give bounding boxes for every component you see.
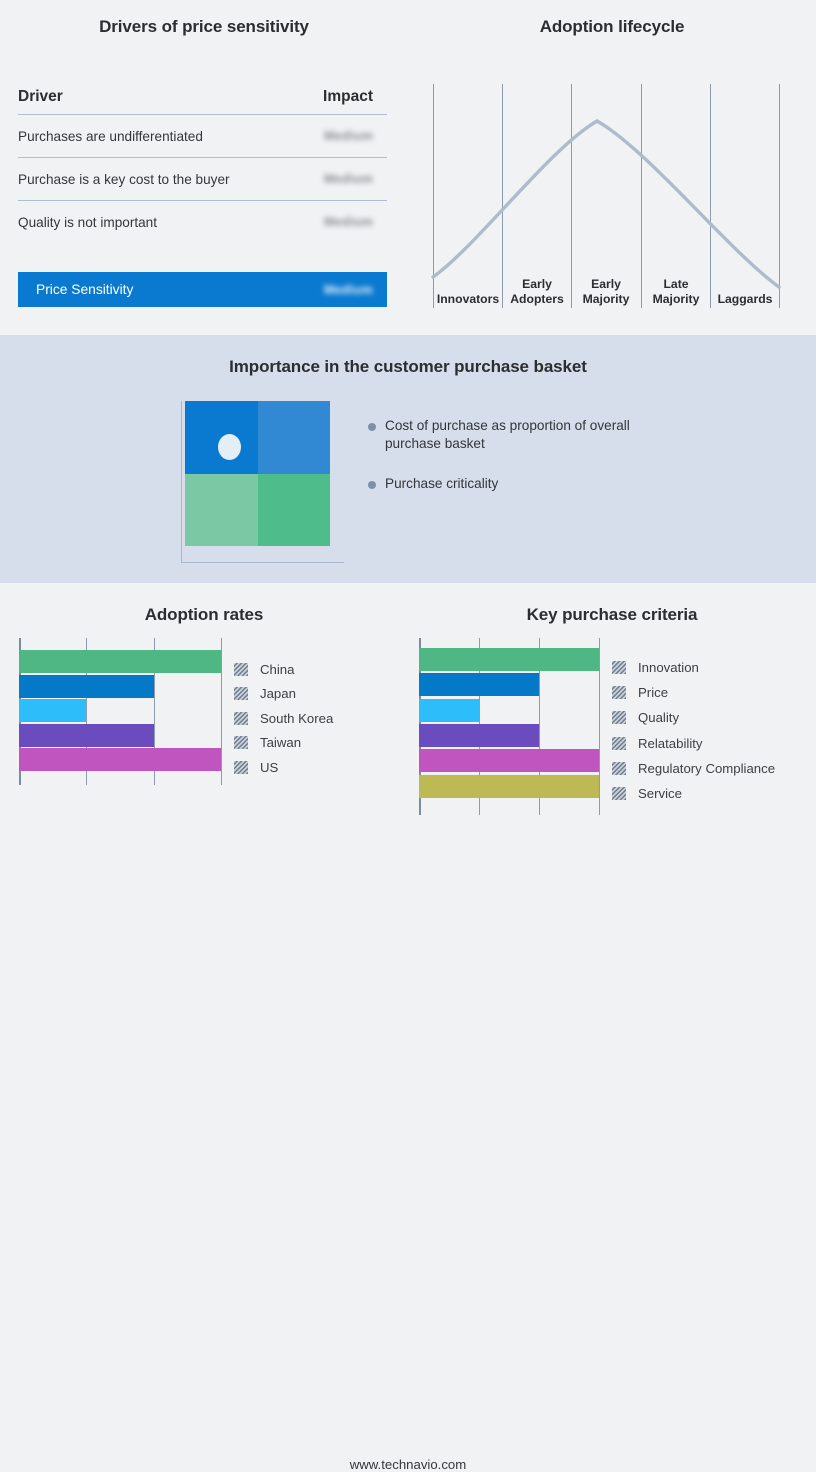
gridline [599, 638, 600, 815]
adoption-rates-title: Adoption rates [0, 605, 408, 625]
legend-item: China [234, 662, 294, 677]
adoption-rates-panel: Adoption rates ChinaJapanSouth KoreaTaiw… [0, 583, 408, 902]
legend-swatch-hatch-icon [234, 663, 248, 676]
legend-label: Innovation [638, 660, 699, 675]
legend-item: Quality [612, 710, 679, 725]
impact-value-redacted: Medium [324, 172, 387, 186]
legend-swatch-hatch-icon [234, 712, 248, 725]
table-row: Quality is not important Medium [18, 201, 387, 243]
legend-swatch-hatch-icon [234, 687, 248, 700]
column-header-impact: Impact [323, 88, 387, 106]
gridline [221, 638, 222, 785]
basket-title: Importance in the customer purchase bask… [0, 335, 816, 377]
legend-item: Price [612, 685, 668, 700]
legend-label: Quality [638, 710, 679, 725]
legend-label: Regulatory Compliance [638, 761, 775, 776]
lifecycle-stage-label: Majority [653, 292, 700, 306]
bar [419, 775, 599, 798]
position-marker [218, 434, 241, 460]
basket-legend: Cost of purchase as proportion of overal… [368, 417, 658, 515]
legend-label: Service [638, 786, 682, 801]
legend-swatch-hatch-icon [612, 686, 626, 699]
adoption-rates-plot [19, 638, 221, 785]
impact-value-redacted: Medium [324, 215, 387, 229]
drivers-table: Driver Impact Purchases are undifferenti… [18, 88, 387, 243]
drivers-panel: Drivers of price sensitivity Driver Impa… [0, 0, 408, 335]
legend-swatch-hatch-icon [612, 737, 626, 750]
bar [419, 724, 539, 747]
legend-swatch-hatch-icon [612, 661, 626, 674]
legend-swatch-hatch-icon [612, 711, 626, 724]
legend-swatch-hatch-icon [234, 736, 248, 749]
table-row: Purchases are undifferentiated Medium [18, 115, 387, 158]
top-section: Drivers of price sensitivity Driver Impa… [0, 0, 816, 335]
key-criteria-title: Key purchase criteria [408, 605, 816, 625]
lifecycle-stage-label: Late [663, 277, 688, 291]
legend-item: Innovation [612, 660, 699, 675]
legend-swatch-hatch-icon [612, 787, 626, 800]
driver-label: Purchase is a key cost to the buyer [18, 172, 230, 187]
lifecycle-stage-label: Adopters [510, 292, 564, 306]
legend-label: Relatability [638, 736, 703, 751]
bar [19, 724, 154, 747]
impact-value-redacted: Medium [324, 283, 387, 297]
bar [419, 648, 599, 671]
middle-section: Importance in the customer purchase bask… [0, 335, 816, 583]
lifecycle-dividers [434, 84, 780, 308]
bottom-section: Adoption rates ChinaJapanSouth KoreaTaiw… [0, 583, 816, 902]
legend-label: Japan [260, 686, 296, 701]
driver-label: Price Sensitivity [36, 282, 133, 297]
bar [19, 748, 221, 771]
legend-item: Relatability [612, 736, 703, 751]
lifecycle-stage-label: Innovators [437, 292, 500, 306]
legend-item: Service [612, 786, 682, 801]
driver-label: Purchases are undifferentiated [18, 129, 203, 144]
lifecycle-stage-label: Early [591, 277, 621, 291]
legend-label: US [260, 760, 278, 775]
lifecycle-stage-label: Majority [583, 292, 630, 306]
legend-item: Taiwan [234, 735, 301, 750]
purchase-basket-panel: Importance in the customer purchase bask… [0, 335, 816, 583]
bar [419, 673, 539, 696]
legend-swatch-hatch-icon [234, 761, 248, 774]
adoption-bell-curve [433, 121, 779, 287]
legend-item: US [234, 760, 278, 775]
quadrant-y-axis [181, 401, 182, 563]
basket-legend-label: Purchase criticality [385, 475, 498, 493]
lifecycle-stage-label: Laggards [718, 292, 773, 306]
impact-value-redacted: Medium [324, 129, 387, 143]
footer-url: www.technavio.com [0, 1457, 816, 1472]
drivers-title: Drivers of price sensitivity [0, 17, 408, 37]
adoption-rates-legend: ChinaJapanSouth KoreaTaiwanUS [234, 645, 404, 792]
legend-label: China [260, 662, 294, 677]
price-sensitivity-highlight-row: Price Sensitivity Medium [18, 272, 387, 307]
driver-label: Quality is not important [18, 215, 157, 230]
lifecycle-chart: Innovators Early Adopters Early Majority… [408, 0, 816, 335]
quadrant-x-axis [181, 562, 344, 563]
legend-label: South Korea [260, 711, 333, 726]
legend-swatch-hatch-icon [612, 762, 626, 775]
quadrant-grid [185, 401, 330, 546]
key-criteria-legend: InnovationPriceQualityRelatabilityRegula… [612, 645, 812, 822]
lifecycle-stage-label: Early [522, 277, 552, 291]
quadrant-cell-bottom-right [258, 474, 331, 547]
bullet-dot-icon [368, 481, 376, 489]
bar [19, 650, 221, 673]
drivers-table-header: Driver Impact [18, 88, 387, 115]
lifecycle-panel: Adoption lifecycle Innovators Early Adop… [408, 0, 816, 335]
bar [19, 675, 154, 698]
legend-label: Price [638, 685, 668, 700]
bar [419, 749, 599, 772]
key-criteria-plot [419, 638, 599, 815]
quadrant-cell-top-right [258, 401, 331, 474]
basket-legend-label: Cost of purchase as proportion of overal… [385, 417, 637, 453]
column-header-driver: Driver [18, 88, 63, 106]
list-item: Purchase criticality [368, 475, 658, 493]
quadrant-cell-bottom-left [185, 474, 258, 547]
legend-label: Taiwan [260, 735, 301, 750]
bar [419, 699, 479, 722]
legend-item: South Korea [234, 711, 333, 726]
legend-item: Regulatory Compliance [612, 761, 775, 776]
legend-item: Japan [234, 686, 296, 701]
table-row: Purchase is a key cost to the buyer Medi… [18, 158, 387, 201]
bar [19, 699, 86, 722]
key-criteria-panel: Key purchase criteria InnovationPriceQua… [408, 583, 816, 902]
bullet-dot-icon [368, 423, 376, 431]
list-item: Cost of purchase as proportion of overal… [368, 417, 658, 453]
